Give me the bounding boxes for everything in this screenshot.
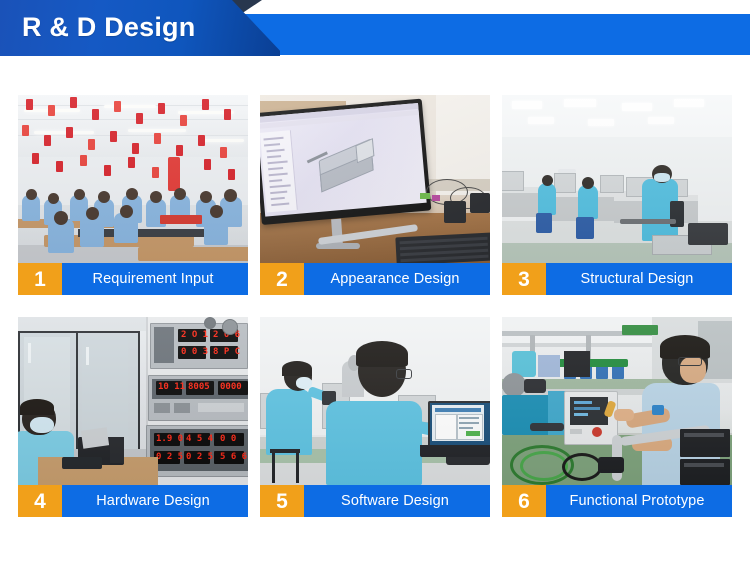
step-caption: 2 Appearance Design (260, 263, 490, 295)
step-caption: 3 Structural Design (502, 263, 732, 295)
prototype-assembly-scene (502, 317, 732, 485)
step-label: Software Design (304, 485, 490, 517)
step-label: Requirement Input (62, 263, 248, 295)
step-number-badge: 3 (502, 263, 546, 295)
step-photo: 2 O 1 2 0 6 0 0 3 8 P C 10 11 8005 0000 (18, 317, 248, 485)
step-label: Structural Design (546, 263, 732, 295)
process-step-card[interactable]: 5 Software Design (260, 317, 490, 517)
software-engineers-scene (260, 317, 490, 485)
process-step-card[interactable]: 2 O 1 2 0 6 0 0 3 8 P C 10 11 8005 0000 (18, 317, 248, 517)
page-header-banner: R & D Design (0, 0, 750, 58)
step-caption: 6 Functional Prototype (502, 485, 732, 517)
office-meeting-scene (18, 95, 248, 263)
step-caption: 5 Software Design (260, 485, 490, 517)
cad-workstation-scene (260, 95, 490, 263)
step-label: Appearance Design (304, 263, 490, 295)
step-number-badge: 1 (18, 263, 62, 295)
process-step-card[interactable]: 3 Structural Design (502, 95, 732, 295)
process-step-card[interactable]: 2 Appearance Design (260, 95, 490, 295)
step-number-badge: 2 (260, 263, 304, 295)
process-step-grid: 1 Requirement Input (18, 95, 732, 530)
step-number-badge: 4 (18, 485, 62, 517)
step-photo (260, 317, 490, 485)
step-number-badge: 6 (502, 485, 546, 517)
step-photo (18, 95, 248, 263)
step-number-badge: 5 (260, 485, 304, 517)
step-label: Functional Prototype (546, 485, 732, 517)
step-caption: 1 Requirement Input (18, 263, 248, 295)
step-caption: 4 Hardware Design (18, 485, 248, 517)
step-photo (260, 95, 490, 263)
clean-lab-scene (502, 95, 732, 263)
page-title: R & D Design (22, 8, 195, 46)
step-photo (502, 317, 732, 485)
step-photo (502, 95, 732, 263)
instrument-rack-scene: 2 O 1 2 0 6 0 0 3 8 P C 10 11 8005 0000 (18, 317, 248, 485)
banner-light-stripe (200, 14, 750, 55)
process-step-card[interactable]: 1 Requirement Input (18, 95, 248, 295)
step-label: Hardware Design (62, 485, 248, 517)
process-step-card[interactable]: 6 Functional Prototype (502, 317, 732, 517)
